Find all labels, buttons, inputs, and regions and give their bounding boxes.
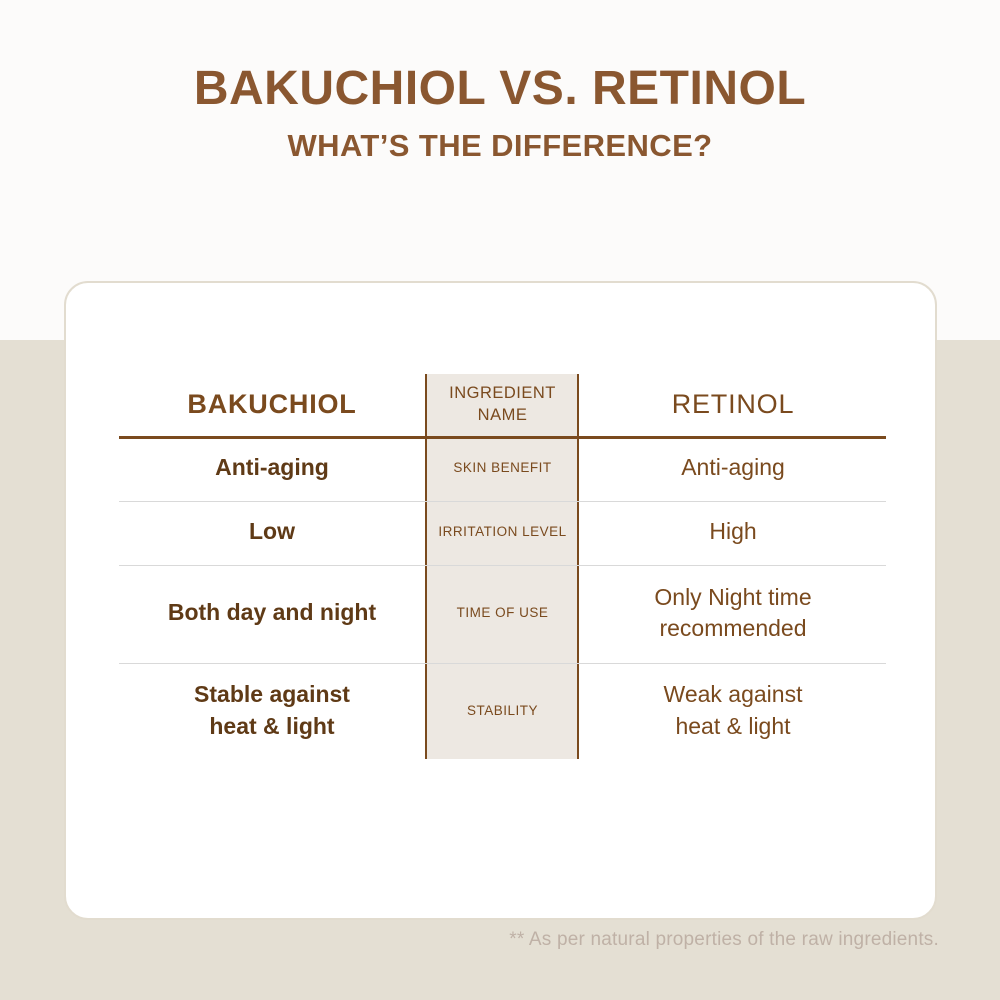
table-row: Both day and night TIME OF USE Only Nigh…	[119, 564, 886, 662]
table-row: Anti-aging SKIN BENEFIT Anti-aging	[119, 436, 886, 500]
cell-bakuchiol-stability-line1: Stable against	[194, 681, 350, 707]
comparison-card: BAKUCHIOL INGREDIENT NAME RETINOL Anti-a…	[64, 281, 937, 920]
table-header-row: BAKUCHIOL INGREDIENT NAME RETINOL	[119, 374, 886, 436]
table-row: Low IRRITATION LEVEL High	[119, 500, 886, 564]
cell-bakuchiol-irritation-level: Low	[119, 500, 425, 564]
column-header-ingredient-name: INGREDIENT NAME	[425, 374, 580, 436]
cell-attribute-irritation-level: IRRITATION LEVEL	[425, 500, 580, 564]
page-subtitle: WHAT’S THE DIFFERENCE?	[0, 128, 1000, 164]
cell-attribute-skin-benefit: SKIN BENEFIT	[425, 436, 580, 500]
comparison-table: BAKUCHIOL INGREDIENT NAME RETINOL Anti-a…	[119, 374, 886, 759]
cell-attribute-stability: STABILITY	[425, 662, 580, 759]
column-header-retinol: RETINOL	[580, 374, 886, 436]
footnote-text: ** As per natural properties of the raw …	[119, 929, 939, 951]
comparison-table-grid: BAKUCHIOL INGREDIENT NAME RETINOL Anti-a…	[119, 374, 886, 759]
cell-retinol-irritation-level: High	[580, 500, 886, 564]
table-row: Stable against heat & light STABILITY We…	[119, 662, 886, 759]
cell-retinol-time-of-use: Only Night time recommended	[580, 564, 886, 662]
row-separator	[119, 565, 886, 566]
row-separator	[119, 501, 886, 502]
cell-bakuchiol-stability-line2: heat & light	[209, 713, 334, 739]
cell-retinol-time-of-use-line1: Only Night time	[654, 584, 811, 610]
cell-retinol-time-of-use-line2: recommended	[659, 615, 806, 641]
cell-attribute-time-of-use: TIME OF USE	[425, 564, 580, 662]
cell-bakuchiol-time-of-use: Both day and night	[119, 564, 425, 662]
page-title: BAKUCHIOL VS. RETINOL	[0, 62, 1000, 116]
header-rule	[119, 436, 886, 439]
cell-bakuchiol-skin-benefit: Anti-aging	[119, 436, 425, 500]
column-header-ingredient-name-line1: INGREDIENT	[449, 384, 556, 402]
heading-block: BAKUCHIOL VS. RETINOL WHAT’S THE DIFFERE…	[0, 62, 1000, 163]
cell-retinol-stability-line2: heat & light	[675, 713, 790, 739]
column-header-ingredient-name-line2: NAME	[478, 406, 528, 424]
infographic-page: BAKUCHIOL VS. RETINOL WHAT’S THE DIFFERE…	[0, 0, 1000, 1000]
cell-retinol-stability: Weak against heat & light	[580, 662, 886, 759]
cell-retinol-skin-benefit: Anti-aging	[580, 436, 886, 500]
column-header-bakuchiol: BAKUCHIOL	[119, 374, 425, 436]
cell-bakuchiol-stability: Stable against heat & light	[119, 662, 425, 759]
cell-retinol-stability-line1: Weak against	[664, 681, 803, 707]
row-separator	[119, 663, 886, 664]
